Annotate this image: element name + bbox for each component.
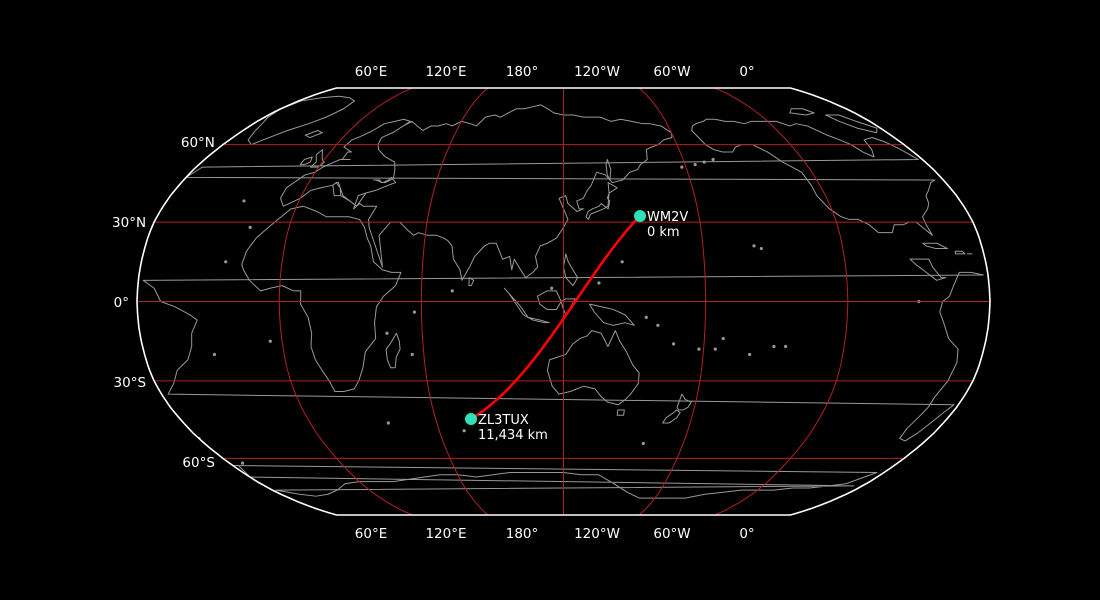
- island-dot: [243, 200, 245, 202]
- island-dot: [249, 226, 251, 228]
- island-dot: [773, 345, 775, 347]
- island-dot: [714, 348, 716, 350]
- lon-tick-bottom: 120°E: [425, 526, 466, 542]
- island-dot: [672, 343, 674, 345]
- robinson-map[interactable]: 60°E120°E180°120°W60°W0°60°E120°E180°120…: [0, 0, 1100, 600]
- island-dot: [463, 430, 465, 432]
- station-callsign-label: ZL3TUX: [478, 413, 529, 428]
- station-distance-label: 0 km: [647, 225, 680, 240]
- island-dot: [681, 166, 683, 168]
- island-dot: [698, 348, 700, 350]
- island-dot: [749, 353, 751, 355]
- island-dot: [387, 422, 389, 424]
- island-dot: [722, 337, 724, 339]
- station-callsign-label: WM2V: [647, 210, 688, 225]
- map-figure: Robinson Projection DM42 to RE66HO (227°…: [0, 0, 1100, 600]
- lon-tick-top: 120°E: [425, 64, 466, 80]
- island-dot: [386, 332, 388, 334]
- lon-tick-bottom: 120°W: [574, 526, 620, 542]
- island-dot: [657, 324, 659, 326]
- island-dot: [642, 442, 644, 444]
- lon-tick-bottom: 0°: [739, 526, 754, 542]
- lat-tick-left: 60°S: [182, 455, 215, 471]
- lon-tick-bottom: 60°W: [653, 526, 690, 542]
- island-dot: [621, 261, 623, 263]
- lon-tick-top: 60°W: [653, 64, 690, 80]
- island-dot: [645, 316, 647, 318]
- lon-tick-top: 0°: [739, 64, 754, 80]
- island-dot: [703, 161, 705, 163]
- lon-tick-bottom: 180°: [506, 526, 539, 542]
- island-dot: [413, 311, 415, 313]
- marker-dot[interactable]: [634, 210, 646, 222]
- island-dot: [269, 340, 271, 342]
- lon-tick-top: 60°E: [355, 64, 387, 80]
- island-dot: [213, 353, 215, 355]
- station-distance-label: 11,434 km: [478, 428, 548, 443]
- lon-tick-top: 120°W: [574, 64, 620, 80]
- marker-dot[interactable]: [465, 413, 477, 425]
- island-dot: [241, 462, 243, 464]
- lon-tick-bottom: 60°E: [355, 526, 387, 542]
- lon-tick-top: 180°: [506, 64, 539, 80]
- island-dot: [785, 345, 787, 347]
- island-dot: [551, 287, 553, 289]
- island-dot: [598, 282, 600, 284]
- lat-tick-left: 30°N: [112, 215, 146, 231]
- island-dot: [712, 158, 714, 160]
- island-dot: [694, 163, 696, 165]
- island-dot: [760, 247, 762, 249]
- lat-tick-left: 0°: [114, 295, 129, 311]
- island-dot: [225, 261, 227, 263]
- map-background: [0, 0, 1100, 600]
- island-dot: [451, 290, 453, 292]
- island-dot: [411, 353, 413, 355]
- lat-tick-left: 60°N: [181, 135, 215, 151]
- island-dot: [753, 245, 755, 247]
- lat-tick-left: 30°S: [114, 375, 147, 391]
